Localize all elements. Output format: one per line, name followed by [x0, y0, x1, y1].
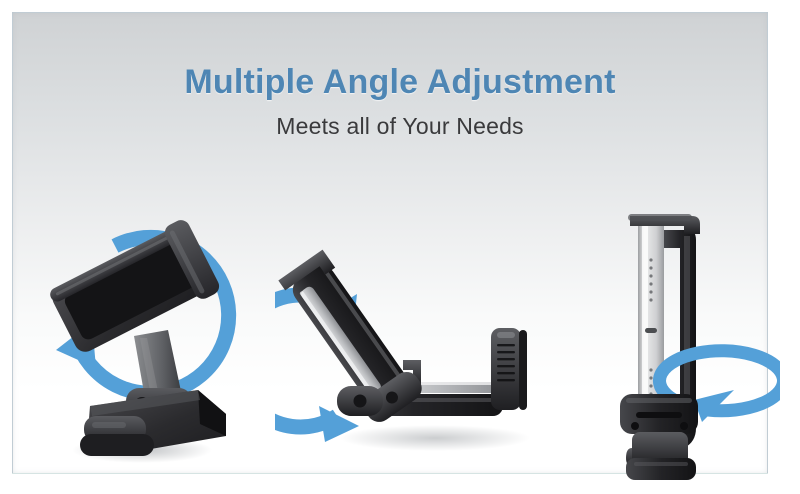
product-image-swivel-adjustment [580, 200, 780, 485]
hinge-joint [337, 386, 383, 416]
stand-right-block [491, 328, 527, 410]
product-image-tilt-adjustment [30, 218, 265, 468]
product-shadow [340, 425, 530, 451]
product-image-fold-adjustment [275, 210, 545, 465]
page-subtitle: Meets all of Your Needs [0, 113, 800, 140]
page-title: Multiple Angle Adjustment [0, 63, 800, 102]
promo-banner: Multiple Angle Adjustment Meets all of Y… [0, 0, 800, 494]
base-pillar [626, 432, 696, 480]
swivel-base [620, 394, 698, 434]
